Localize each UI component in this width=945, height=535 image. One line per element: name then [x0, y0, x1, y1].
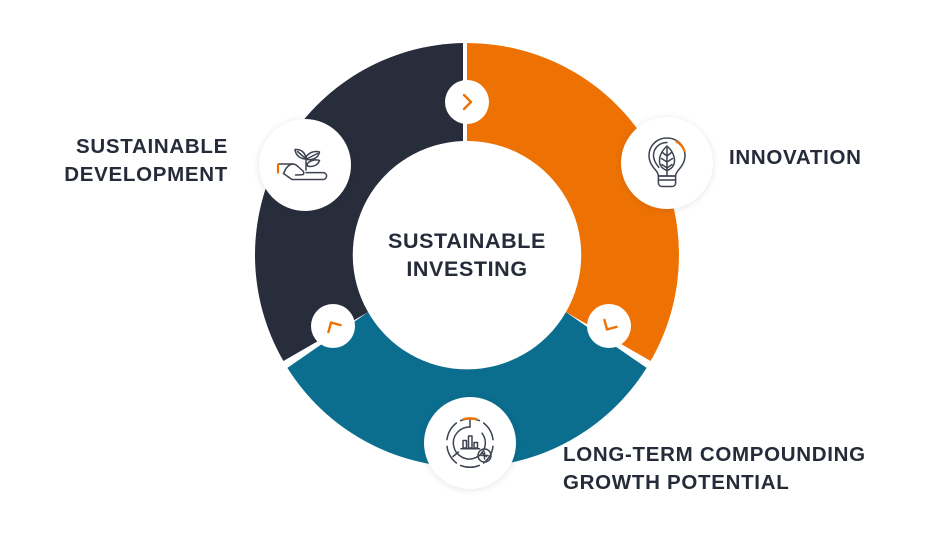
label-sustainable-development-line1: SUSTAINABLE — [0, 133, 228, 161]
label-sustainable-development: SUSTAINABLE DEVELOPMENT — [0, 133, 228, 188]
label-innovation: INNOVATION — [729, 144, 862, 172]
icon-bubble-long-term-compounding-growth-potential[interactable] — [424, 397, 516, 489]
center-title-line2: INVESTING — [406, 255, 527, 283]
chevron-right-icon — [456, 91, 478, 113]
icon-bubble-sustainable-development[interactable] — [259, 119, 351, 211]
lightbulb-leaf-icon — [643, 134, 691, 192]
label-growth-line1: LONG-TERM COMPOUNDING — [563, 441, 866, 469]
infographic-canvas: SUSTAINABLE INVESTING — [0, 0, 945, 535]
icon-bubble-innovation[interactable] — [621, 117, 713, 209]
center-title-line1: SUSTAINABLE — [388, 227, 546, 255]
hand-plant-icon — [276, 139, 334, 191]
growth-chart-icon — [442, 415, 498, 471]
label-sustainable-development-line2: DEVELOPMENT — [0, 161, 228, 189]
connector-top[interactable] — [445, 80, 489, 124]
label-long-term-compounding-growth-potential: LONG-TERM COMPOUNDING GROWTH POTENTIAL — [563, 441, 866, 496]
connector-bottom-right[interactable] — [587, 304, 631, 348]
chevron-right-icon — [318, 311, 348, 341]
chevron-right-icon — [594, 311, 624, 341]
connector-bottom-left[interactable] — [311, 304, 355, 348]
center-title: SUSTAINABLE INVESTING — [369, 157, 565, 353]
label-growth-line2: GROWTH POTENTIAL — [563, 469, 866, 497]
label-innovation-line1: INNOVATION — [729, 144, 862, 172]
